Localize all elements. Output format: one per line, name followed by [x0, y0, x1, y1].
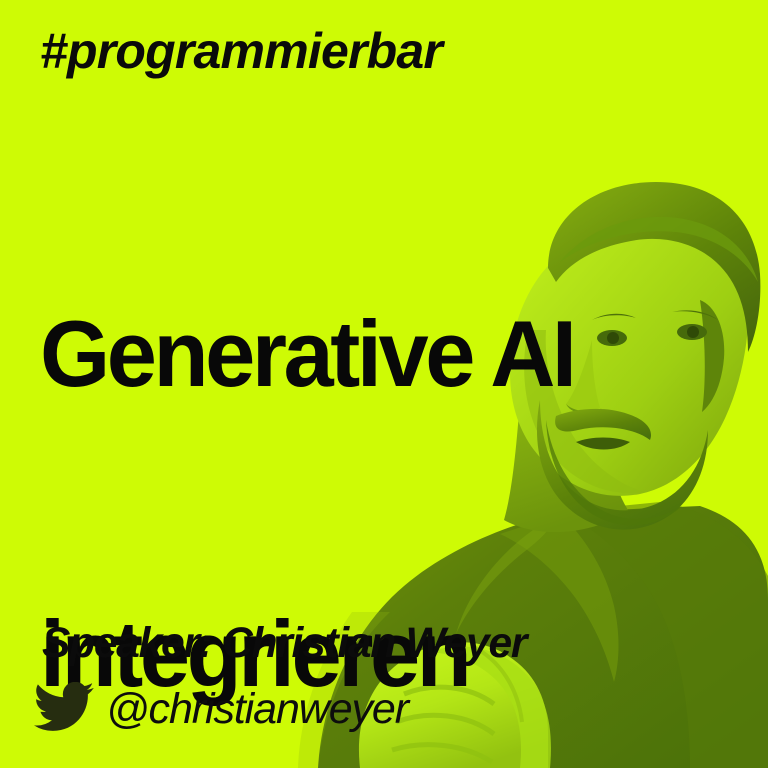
twitter-bird-icon[interactable] [34, 682, 94, 732]
episode-title: Generative AI integrieren [40, 104, 574, 768]
poster-text-layer: #programmierbar Generative AI integriere… [0, 0, 768, 768]
twitter-handle-row[interactable]: @christianweyer [34, 682, 408, 732]
speaker-name: Speaker: Christian Weyer [42, 622, 526, 665]
podcast-episode-poster: #programmierbar Generative AI integriere… [0, 0, 768, 768]
episode-title-line-1: Generative AI [40, 304, 574, 404]
podcast-hashtag: #programmierbar [40, 26, 442, 76]
twitter-handle-text[interactable]: @christianweyer [106, 688, 408, 731]
